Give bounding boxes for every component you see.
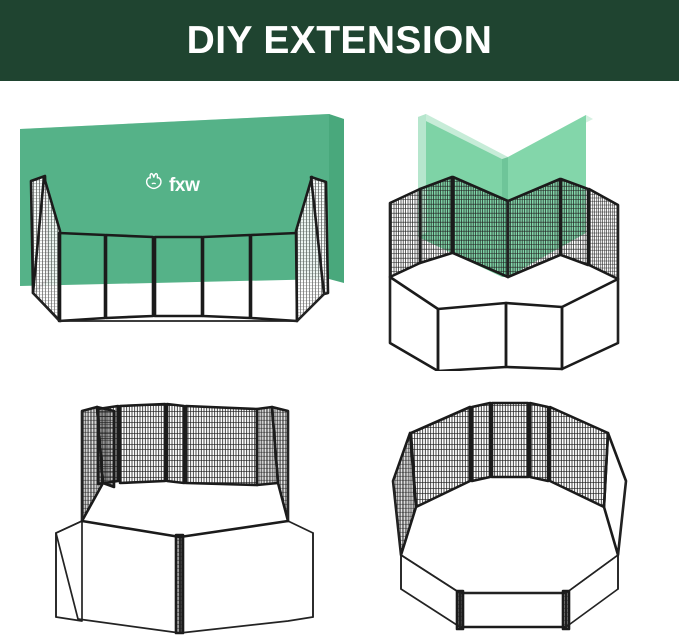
fence-panel-back-4	[186, 406, 257, 485]
figure-playpen-against-corner-wall	[360, 81, 679, 371]
fence-panel-front-center-right	[506, 303, 562, 369]
fence-panel-front-left	[390, 277, 438, 371]
square-playpen-illustration	[0, 371, 360, 638]
fence-panel-front-left	[56, 521, 82, 621]
fence-panel-front-right	[562, 279, 618, 369]
fence-panel-front-right-floor	[180, 521, 313, 633]
figure-playpen-square	[0, 371, 360, 638]
fence-panel-rear-right-2	[589, 189, 618, 279]
fence-panel-front-left	[401, 555, 460, 627]
fence-panel-back-3	[167, 404, 184, 483]
fence-panel-back-1	[98, 406, 118, 484]
figure-playpen-against-straight-wall: fxw	[0, 81, 360, 371]
brand-wordmark: fxw	[169, 175, 200, 196]
fence-panel-rear-left-2	[420, 177, 452, 263]
fence-panel-rear-right	[561, 179, 588, 265]
page-title: DIY EXTENSION	[187, 21, 493, 60]
header-banner: DIY EXTENSION	[0, 0, 679, 81]
fence-panel-right-back	[550, 407, 608, 507]
fence-gate-post	[176, 535, 183, 633]
playpen-fence	[393, 403, 626, 629]
fence-panel-left-back	[411, 407, 470, 507]
product-infographic-page: DIY EXTENSION	[0, 0, 679, 638]
figure-grid: fxw	[0, 81, 679, 638]
fence-panel-rear-left	[390, 189, 420, 277]
straight-wall-illustration: fxw	[0, 81, 360, 371]
figure-playpen-octagon	[360, 371, 679, 638]
fence-panel-front-center	[460, 593, 566, 627]
fence-panel-front-center-left	[438, 303, 506, 371]
fence-gate-post-right	[563, 591, 569, 629]
fence-panel-front-left-floor	[56, 521, 180, 633]
fence-panel-back-left	[472, 403, 490, 481]
fence-panel-back-2	[120, 404, 165, 483]
fence-panel-back-center	[492, 403, 528, 477]
fence-panel-back-right	[530, 403, 548, 481]
playpen-fence	[56, 404, 313, 633]
fence-panel-front-right	[566, 555, 618, 627]
fence-gate-post	[457, 591, 463, 629]
fence-panel-right-far	[604, 433, 626, 555]
playpen-fence	[390, 177, 618, 371]
octagon-playpen-illustration	[360, 371, 679, 638]
corner-wall-illustration	[360, 81, 679, 371]
